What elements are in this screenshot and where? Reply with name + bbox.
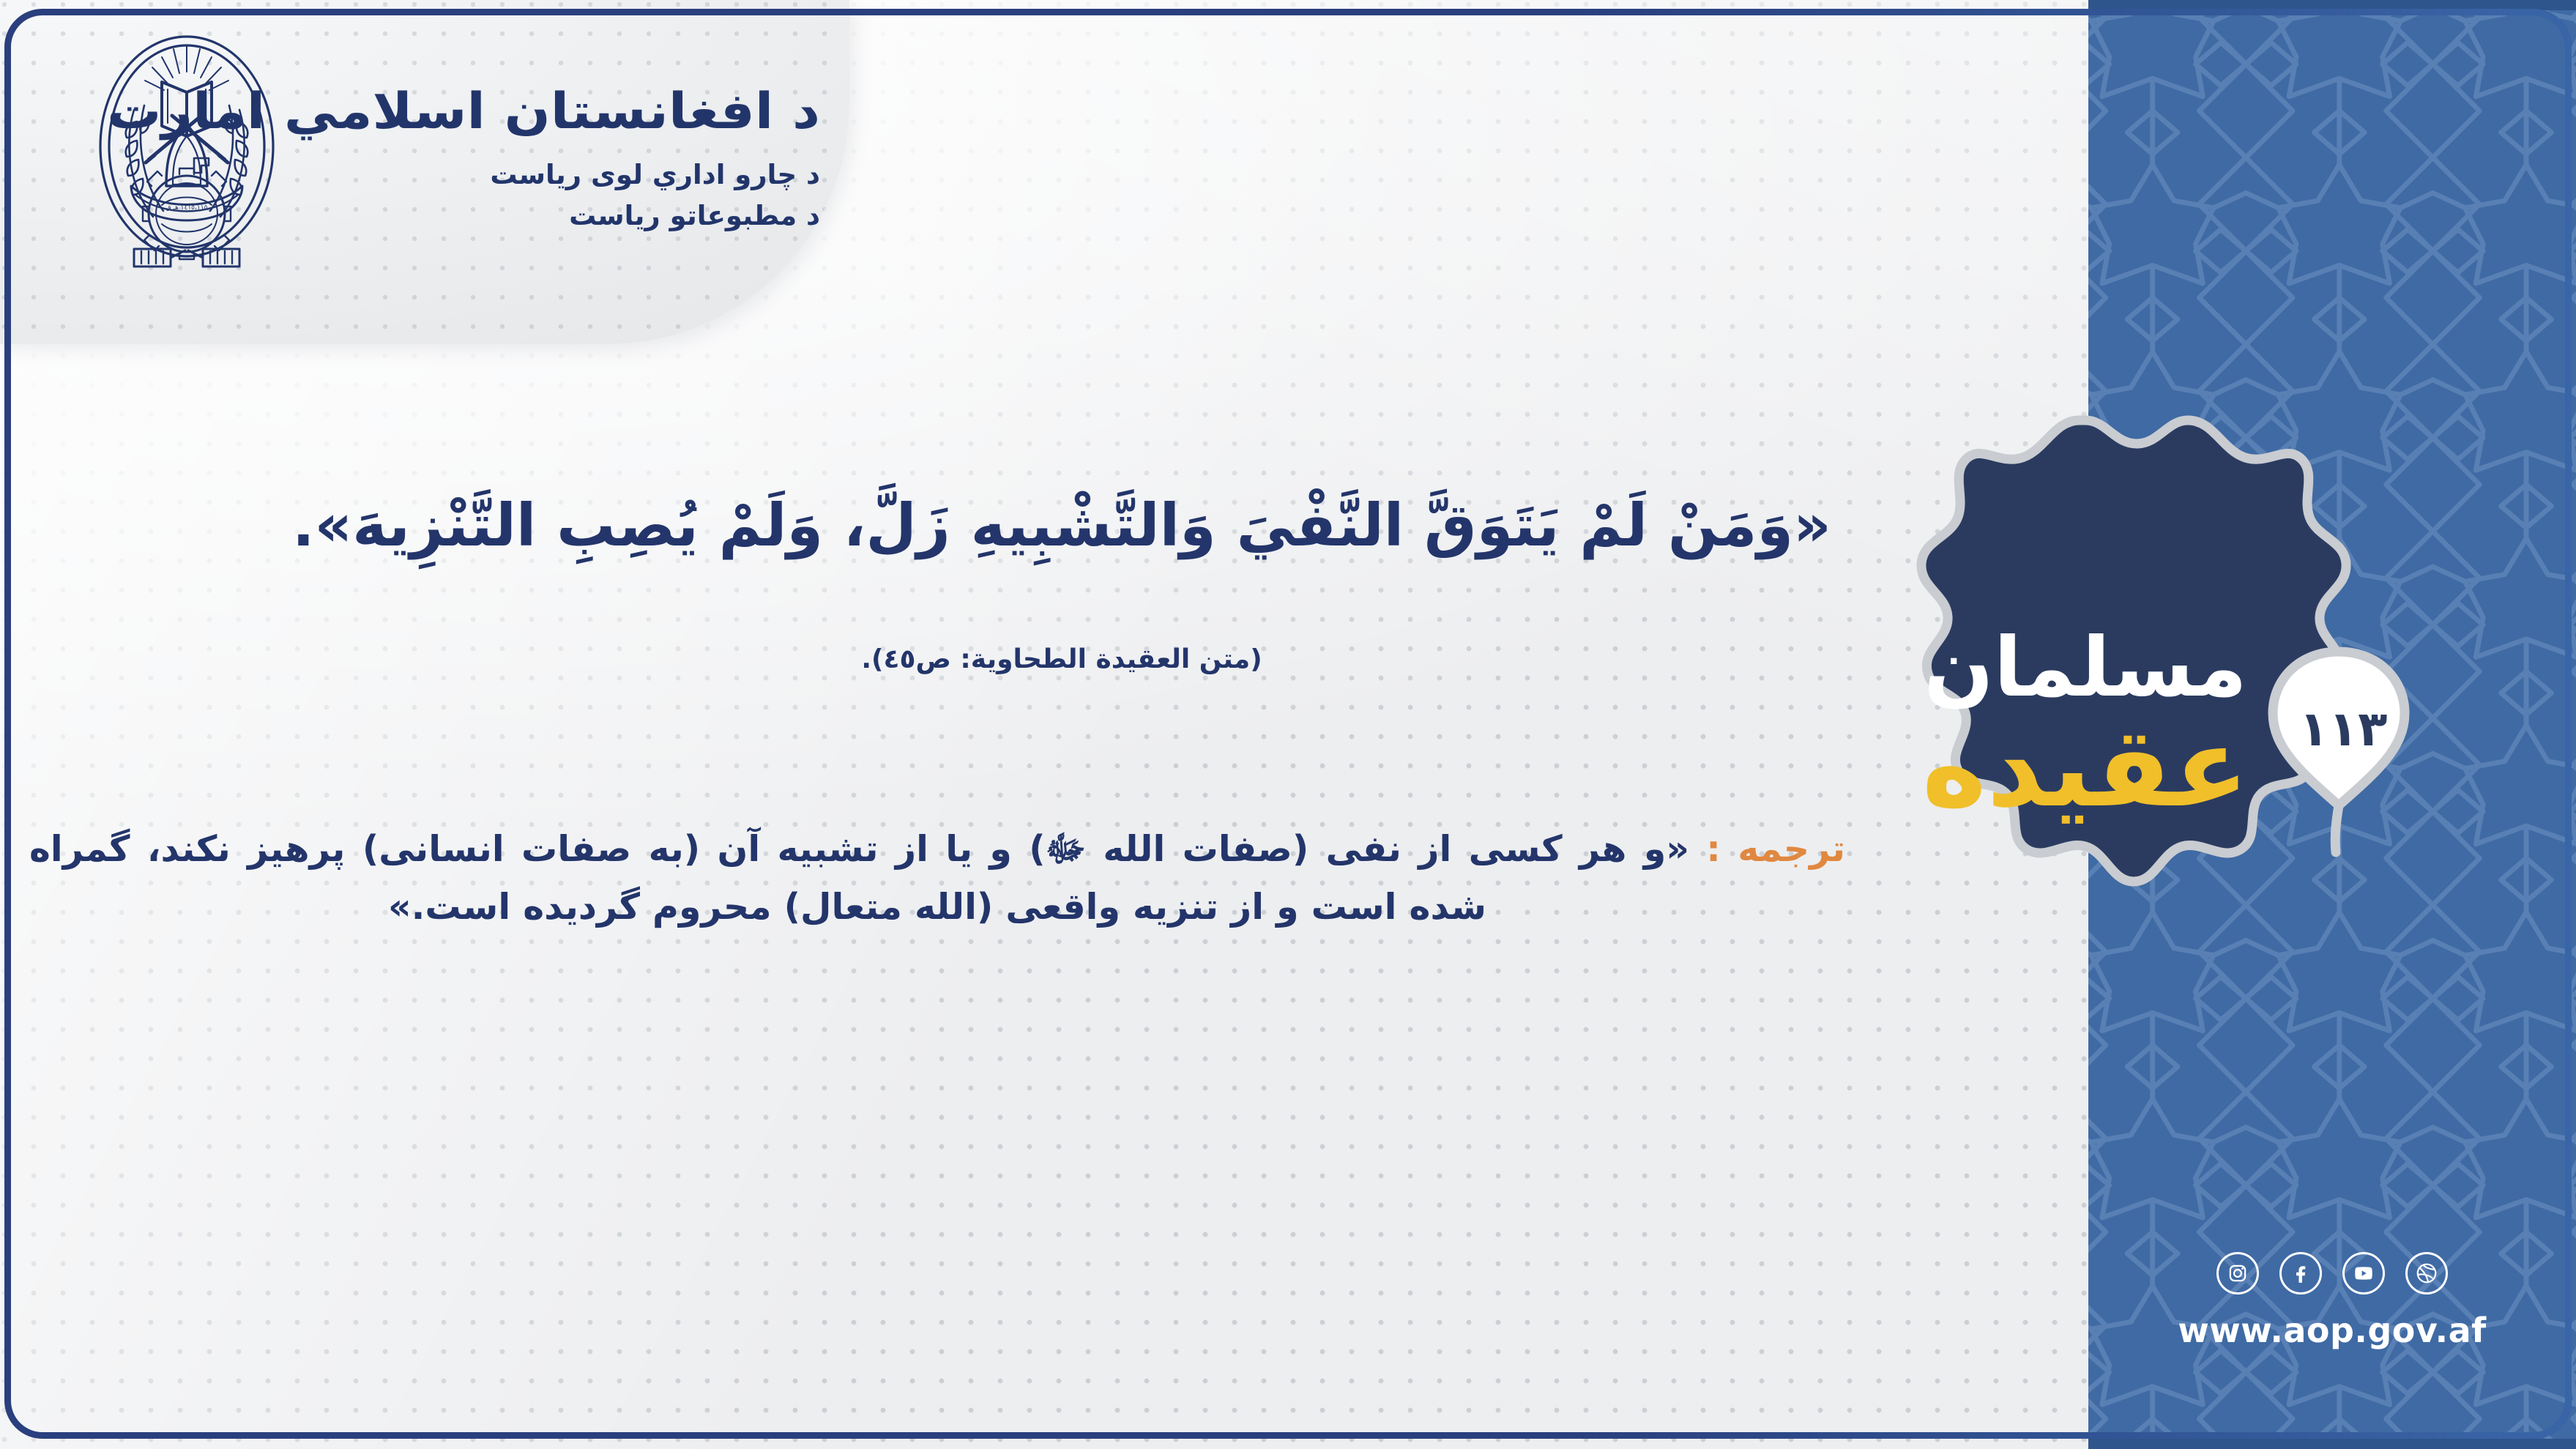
instagram-icon[interactable] [2216,1252,2259,1295]
badge-plaque-outline [1921,420,2346,882]
organization-name: د افغانستان اسلامي امارت [315,86,820,136]
department-line-1: د چارو اداري لوی ریاست [315,154,820,195]
translation-block: ترجمه : «و هر کسی از نفی (صفات الله ﷻ) و… [29,820,1845,936]
arabic-quote: «وَمَنْ لَمْ يَتَوَقَّ النَّفْيَ وَالتَّ… [278,483,1845,568]
translation-text-1: «و هر کسی از نفی (صفات الله ﷻ) و یا از ت… [29,828,1689,870]
badge-number-shape [2273,652,2405,852]
website-url[interactable]: www.aop.gov.af [2145,1311,2519,1350]
poster-canvas: ١٤١٥،١١٥ هـ ق د افغانستان اسلامي امارت د… [0,0,2576,1449]
facebook-icon[interactable] [2279,1252,2322,1295]
department-line-2: د مطبوعاتو ریاست [315,195,820,236]
series-badge: مسلمان عقیده ۱۱۳ [1822,410,2437,1040]
afghanistan-emblem-icon: ١٤١٥،١١٥ هـ ق [92,29,282,271]
panel-bottom-cap [2088,1439,2576,1449]
translation-line-2: شده است و از تنزیه واقعی (الله متعال) مح… [29,878,1845,936]
translation-line-1: ترجمه : «و هر کسی از نفی (صفات الله ﷻ) و… [29,820,1845,878]
social-links [2189,1252,2475,1295]
quote-citation: (متن العقيدة الطحاوية: ص٤٥). [278,644,1845,674]
panel-top-cap [2088,0,2576,10]
dribbble-icon[interactable] [2405,1252,2448,1295]
header-title-block: د افغانستان اسلامي امارت د چارو اداري لو… [315,84,820,236]
svg-text:١٤١٥،١١٥ هـ ق: ١٤١٥،١١٥ هـ ق [166,204,208,212]
youtube-icon[interactable] [2342,1252,2385,1295]
